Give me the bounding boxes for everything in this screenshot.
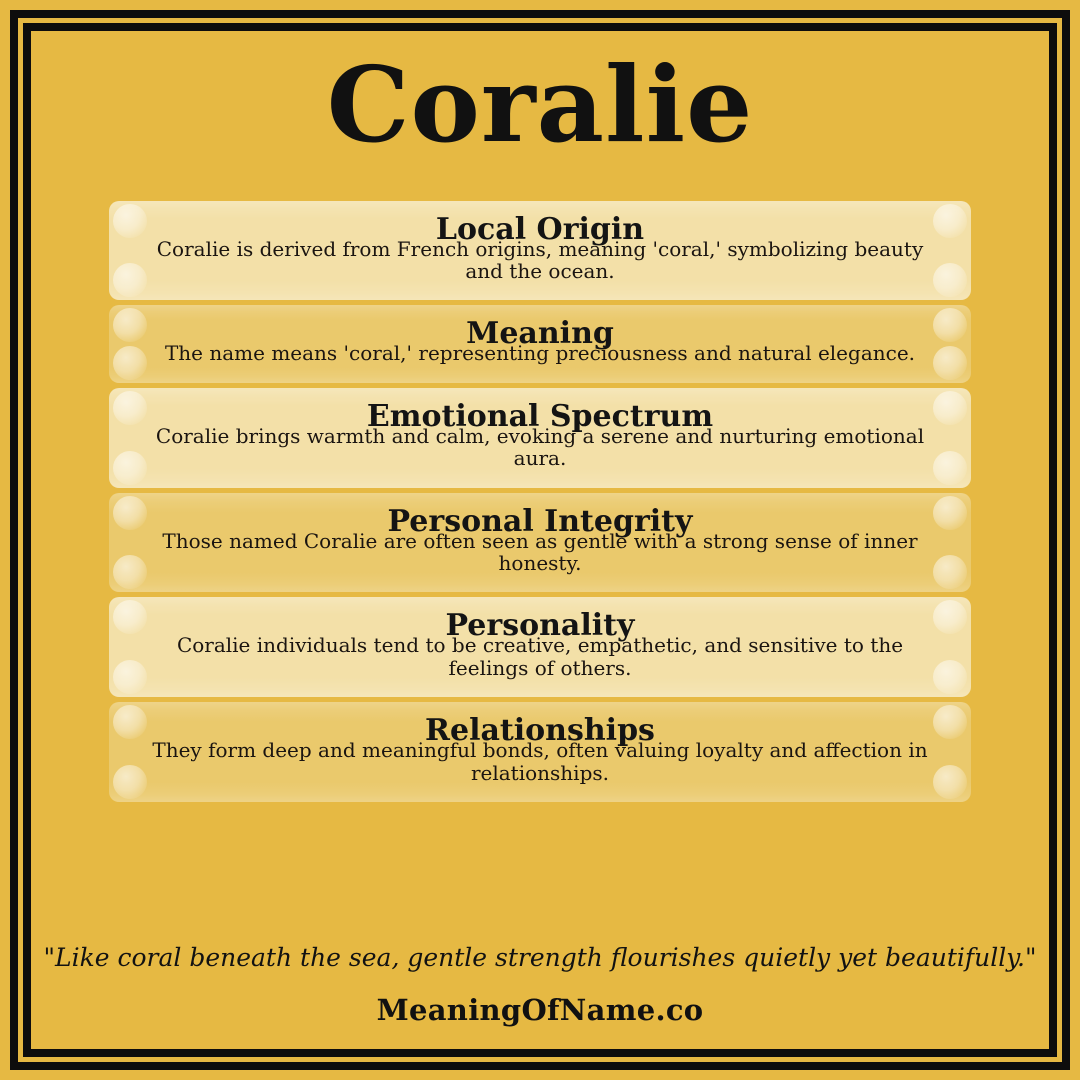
card-heading: Personal Integrity (135, 507, 945, 537)
card-heading: Relationships (135, 716, 945, 746)
attribute-card: Personal Integrity Those named Coralie a… (109, 493, 971, 593)
poster-content: Coralie Local Origin Coralie is derived … (31, 31, 1049, 1049)
name-meaning-poster: Coralie Local Origin Coralie is derived … (0, 0, 1080, 1080)
card-heading: Meaning (135, 319, 945, 349)
attribute-card-list: Local Origin Coralie is derived from Fre… (109, 201, 971, 807)
brand-wordmark: MeaningOfName.co (31, 993, 1049, 1027)
card-heading: Local Origin (135, 215, 945, 245)
card-heading: Emotional Spectrum (135, 402, 945, 432)
attribute-card: Local Origin Coralie is derived from Fre… (109, 201, 971, 301)
footer-quote: "Like coral beneath the sea, gentle stre… (31, 943, 1049, 973)
attribute-card: Personality Coralie individuals tend to … (109, 597, 971, 697)
poster-footer: "Like coral beneath the sea, gentle stre… (31, 943, 1049, 1049)
attribute-card: Emotional Spectrum Coralie brings warmth… (109, 388, 971, 488)
attribute-card: Meaning The name means 'coral,' represen… (109, 305, 971, 382)
page-title: Coralie (327, 31, 754, 165)
card-heading: Personality (135, 611, 945, 641)
attribute-card: Relationships They form deep and meaning… (109, 702, 971, 802)
